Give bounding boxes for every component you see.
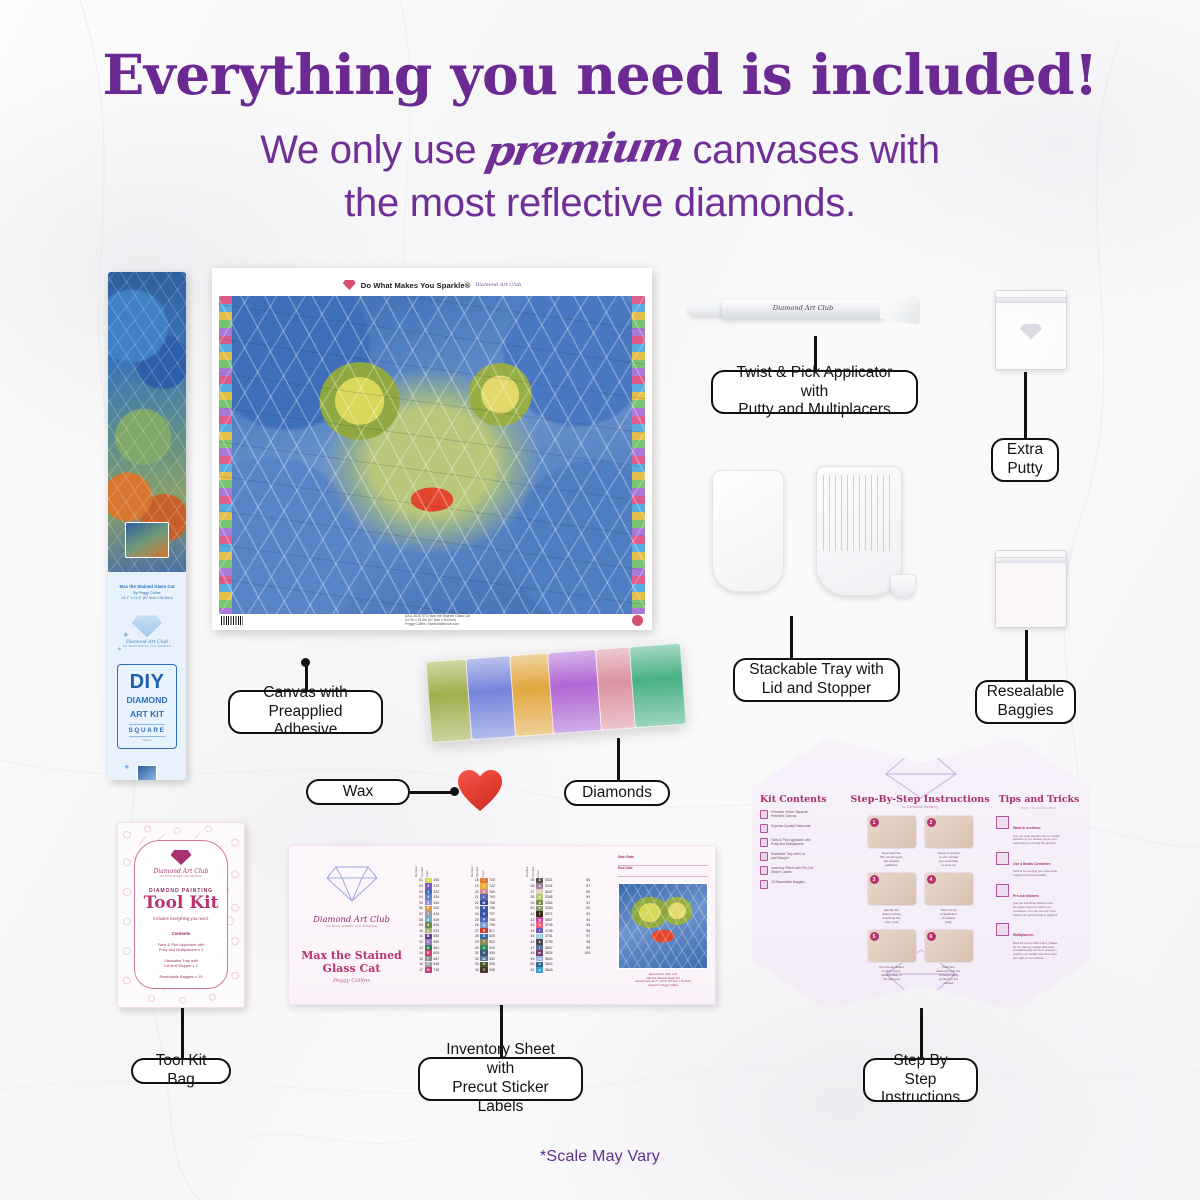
callout-applicator[interactable]: Twist & Pick Applicator with Putty and M… xyxy=(711,370,918,414)
diamond-icon xyxy=(343,280,356,290)
toolkit-content-item: Stackable Tray with Lid and Stopper x 1 xyxy=(158,958,204,968)
tray-lid xyxy=(890,574,916,598)
kit-content-row: Stackable Tray with Lid and Stopper xyxy=(760,852,844,861)
step-image: 1 xyxy=(867,815,917,849)
tips-subheading: FOR YOUR PROJECT xyxy=(996,806,1082,810)
chart-column: Number Symbol Color 18I72019J74220K76021… xyxy=(470,855,522,998)
drill-type: SQUARE xyxy=(129,724,166,737)
chart-swatch: j xyxy=(536,934,543,939)
chart-code: 718 xyxy=(433,968,445,972)
chart-number: 07 xyxy=(414,912,423,916)
kit-contents-column: Kit Contents Premium Velvet Tarpaulin Pa… xyxy=(760,794,844,964)
callout-extra-putty[interactable]: Extra Putty xyxy=(991,438,1059,482)
canvas-footer-info: DAC-4025 STG Max the Stained Glass Cat 2… xyxy=(405,614,470,627)
chart-swatch: i xyxy=(536,928,543,933)
step-image: 4 xyxy=(924,872,974,906)
chart-number: 14 xyxy=(414,951,423,955)
step-text: Twist the tip of applicator to release p… xyxy=(924,908,974,924)
chart-swatch: 8 xyxy=(425,917,432,922)
chart-code: 3761 xyxy=(545,934,557,938)
chart-swatch: O xyxy=(480,911,487,916)
chart-number: 93 xyxy=(581,912,590,916)
chart-number: 22 xyxy=(470,901,479,905)
chart-code: 910 xyxy=(489,946,501,950)
step-number: 1 xyxy=(870,818,879,827)
chart-code: 3047 xyxy=(545,890,557,894)
chart-code: 930 xyxy=(489,951,501,955)
chart-number: 27 xyxy=(470,929,479,933)
inventory-sheet: Diamond Art Club DO WHAT MAKES YOU SPARK… xyxy=(288,845,716,1005)
step-image: 6 xyxy=(924,929,974,963)
chart-swatch: D xyxy=(425,945,432,950)
chart-code: 3807 xyxy=(545,946,557,950)
chart-code: 334 xyxy=(433,895,445,899)
package-size: 24.7" x 21.6" (67.5cm x 54.9cm) xyxy=(108,596,186,601)
chart-number: 10 xyxy=(414,929,423,933)
chart-column: Number Symbol Color 35Z302136a304137b304… xyxy=(525,855,577,998)
chart-number: 04 xyxy=(414,895,423,899)
step-image: 5 xyxy=(867,929,917,963)
chart-swatch: 9 xyxy=(425,922,432,927)
tray-stopper xyxy=(712,470,784,592)
step-image: 2 xyxy=(924,815,974,849)
toolkit-content-item: Twist & Pick Applicator with Putty and M… xyxy=(151,942,210,952)
chart-code: 3363 xyxy=(545,906,557,910)
sparkle-icon: ✦ xyxy=(123,762,131,773)
step-text: Place the diamond onto the corresponding… xyxy=(924,965,974,985)
chart-code: 825 xyxy=(489,934,501,938)
chart-swatch: 5 xyxy=(425,900,432,905)
end-date-line[interactable] xyxy=(618,870,708,877)
tips-heading: Tips and Tricks xyxy=(996,794,1082,805)
start-date-line[interactable] xyxy=(618,859,708,866)
chart-number: 47 xyxy=(525,946,534,950)
package-mini-thumbnail xyxy=(137,765,157,780)
kit-content-row: 15 Resealable Baggies xyxy=(760,880,844,889)
chart-number: 35 xyxy=(525,878,534,882)
chart-number: 99 xyxy=(581,946,590,950)
chart-number: 33 xyxy=(470,962,479,966)
barcode-icon xyxy=(221,616,243,625)
chart-header-symbol: Symbol xyxy=(531,867,535,877)
chart-code: 3746 xyxy=(545,929,557,933)
chart-swatch: b xyxy=(536,889,543,894)
chart-rows-a: 0111500222100333220443340553400664020774… xyxy=(414,878,466,973)
kit-content-text: Inventory Sheet with Pre-Cut Sticker Lab… xyxy=(771,866,813,874)
applicator-icon xyxy=(760,838,768,847)
chart-header: Number Symbol Color xyxy=(470,855,522,877)
toolkit-brand-sub: DO WHAT MAKES YOU SPARKLE xyxy=(160,875,202,878)
chart-code: 3799 xyxy=(545,940,557,944)
instructions-columns: Kit Contents Premium Velvet Tarpaulin Pa… xyxy=(760,794,1082,964)
chart-number: 85 xyxy=(581,878,590,882)
callout-tool-kit-bag[interactable]: Tool Kit Bag xyxy=(131,1058,231,1084)
chart-swatch: 1 xyxy=(425,878,432,883)
subheadline-part-1: We only use xyxy=(260,128,476,172)
leader-line-tray xyxy=(790,616,793,658)
kit-line-1: DIAMOND xyxy=(120,695,174,705)
chart-header: Number Symbol Color xyxy=(525,855,577,877)
chart-code: 3840 xyxy=(545,957,557,961)
sparkle-icon: ✦ xyxy=(117,646,122,653)
chart-swatch: g xyxy=(536,917,543,922)
chart-code: 322 xyxy=(433,890,445,894)
package-title: Max the Stained Glass Cat xyxy=(108,584,186,591)
canvas-header: Do What Makes You Sparkle® Diamond Art C… xyxy=(219,275,645,295)
callout-step-by-step[interactable]: Step By Step Instructions xyxy=(863,1058,978,1102)
chart-swatch: W xyxy=(480,956,487,961)
tip-row: Pre-cut stickers:Use the individual stic… xyxy=(996,884,1082,918)
step-item: 3Identify the diamond bag matching the c… xyxy=(867,872,917,924)
diamond-icon xyxy=(132,615,162,637)
chart-number: 17 xyxy=(414,968,423,972)
stackable-tray xyxy=(712,466,922,616)
kit-content-row: Inventory Sheet with Pre-Cut Sticker Lab… xyxy=(760,866,844,875)
inventory-artist: Peggy Collins xyxy=(333,978,370,984)
chart-number: 29 xyxy=(470,940,479,944)
canvas-icon xyxy=(760,810,768,819)
leader-line-steps xyxy=(920,1008,923,1058)
chart-code: 3834 xyxy=(545,951,557,955)
chart-header-color: Color xyxy=(481,870,485,877)
chart-number: 21 xyxy=(470,895,479,899)
chart-code: 150 xyxy=(433,878,445,882)
page-title: Everything you need is included! xyxy=(0,46,1200,104)
chart-rows-c: 35Z302136a304137b304738c334839d336240e33… xyxy=(525,878,577,973)
steps-grid: 1Peel back the film covering the pre-app… xyxy=(850,815,990,985)
tip-title: Pre-cut stickers: xyxy=(1013,894,1040,898)
chart-code: 3041 xyxy=(545,884,557,888)
chart-swatch: o xyxy=(536,962,543,967)
chart-swatch: X xyxy=(480,962,487,967)
chart-number: 34 xyxy=(470,968,479,972)
callout-canvas[interactable]: Canvas with Preapplied Adhesive xyxy=(228,690,383,734)
chart-number: 38 xyxy=(525,895,534,899)
chart-row: 34Y938 xyxy=(470,967,522,973)
callout-stackable-tray[interactable]: Stackable Tray with Lid and Stopper xyxy=(733,658,900,702)
chart-swatch: S xyxy=(480,934,487,939)
kit-content-text: Premium Velvet Tarpaulin Patented Canvas xyxy=(771,810,808,818)
chart-swatch: H xyxy=(425,967,432,972)
chart-swatch: V xyxy=(480,950,487,955)
chart-swatch: P xyxy=(480,917,487,922)
steps-column: Step-By-Step Instructions to Diamond Pai… xyxy=(850,794,990,964)
leader-line-toolkit xyxy=(181,1008,184,1058)
chart-swatch: E xyxy=(425,950,432,955)
diamond-icon xyxy=(171,850,192,865)
chart-number: 01 xyxy=(414,878,423,882)
chart-swatch: R xyxy=(480,928,487,933)
step-item: 1Peel back the film covering the pre-app… xyxy=(867,815,917,867)
chart-row: 51p3843 xyxy=(525,967,577,973)
twist-and-pick-applicator: Diamond Art Club xyxy=(684,284,934,336)
chart-number: 31 xyxy=(470,951,479,955)
kit-content-text: Twist & Pick Applicator with Putty and M… xyxy=(771,838,811,846)
chart-header-color: Color xyxy=(425,870,429,877)
kit-line-2: ART KIT xyxy=(120,709,174,719)
chart-number: 89 xyxy=(581,890,590,894)
chart-code: 3371 xyxy=(545,912,557,916)
diamonds-icon xyxy=(760,824,768,833)
baggie-shape xyxy=(995,550,1067,628)
chart-header-number: Number xyxy=(414,866,418,877)
chart-code: 600 xyxy=(433,951,445,955)
chart-code: 3705 xyxy=(545,923,557,927)
chart-number: 16 xyxy=(414,962,423,966)
diamond-painting-canvas: Do What Makes You Sparkle® Diamond Art C… xyxy=(212,268,652,630)
step-item: 4Twist the tip of applicator to release … xyxy=(924,872,974,924)
chart-swatch: A xyxy=(425,928,432,933)
chart-swatch: e xyxy=(536,906,543,911)
chart-number: 23 xyxy=(470,906,479,910)
chart-swatch: c xyxy=(536,894,543,899)
diy-badge: DIY DIAMOND ART KIT SQUARE DRILLS xyxy=(117,664,177,749)
canvas-color-key-left xyxy=(219,296,232,614)
chart-number: 49 xyxy=(525,957,534,961)
toolkit-content-item: Resealable Baggies x 15 xyxy=(153,974,208,979)
step-by-step-instructions-sheet: Kit Contents Premium Velvet Tarpaulin Pa… xyxy=(752,738,1090,1010)
package-thumbnail xyxy=(125,522,169,558)
step-text: Select a symbol on the canvas you would … xyxy=(924,851,974,867)
chart-code: 936 xyxy=(489,962,501,966)
tip-title: Multiplacers: xyxy=(1013,933,1034,937)
chart-swatch: K xyxy=(480,889,487,894)
chart-column: Number Symbol Color 01115002221003332204… xyxy=(414,855,466,998)
chart-code: 340 xyxy=(433,901,445,905)
chart-swatch: 7 xyxy=(425,911,432,916)
sheet-icon xyxy=(760,866,768,875)
kit-content-row: Superior Quality Diamonds xyxy=(760,824,844,833)
multiplacer-icon xyxy=(996,923,1009,936)
chart-code: 796 xyxy=(489,901,501,905)
chart-header-spacer xyxy=(581,855,607,877)
chart-swatch: Q xyxy=(480,922,487,927)
container-icon xyxy=(996,852,1009,865)
headline-block: Everything you need is included! We only… xyxy=(0,46,1200,231)
chart-rows-d: 85878990919293949596979899100 xyxy=(581,878,607,956)
chart-swatch: k xyxy=(536,939,543,944)
tip-text: Use our clear tearable film for visible … xyxy=(1013,835,1060,846)
chart-swatch: 2 xyxy=(425,883,432,888)
chart-number: 46 xyxy=(525,940,534,944)
chart-number: 24 xyxy=(470,912,479,916)
chart-swatch: d xyxy=(536,900,543,905)
chart-swatch: n xyxy=(536,956,543,961)
steps-heading: Step-By-Step Instructions xyxy=(850,794,990,805)
chart-code: 796 xyxy=(489,906,501,910)
toolkit-title: Tool Kit xyxy=(144,895,219,912)
chart-code: 799 xyxy=(489,923,501,927)
chart-number: 30 xyxy=(470,946,479,950)
chart-code: 3607 xyxy=(545,918,557,922)
subheadline-line-3: the most reflective diamonds. xyxy=(344,181,856,225)
scale-footnote: *Scale May Vary xyxy=(0,1148,1200,1166)
chart-swatch: M xyxy=(480,900,487,905)
chart-swatch: I xyxy=(480,878,487,883)
chart-header-color: Color xyxy=(536,870,540,877)
step-number: 2 xyxy=(927,818,936,827)
chart-rows-b: 18I72019J74220K76021L79322M79623N79624O7… xyxy=(470,878,522,973)
tip-row: Multiplacers:Each kit comes with 3 and 7… xyxy=(996,923,1082,960)
leader-line-diamonds xyxy=(617,738,620,780)
chart-swatch: 4 xyxy=(425,894,432,899)
tool-kit-bag: Diamond Art Club DO WHAT MAKES YOU SPARK… xyxy=(117,822,245,1008)
chart-code: 793 xyxy=(489,895,501,899)
leader-line-baggies xyxy=(1025,630,1028,680)
diy-kit-package: Max the Stained Glass Cat By Peggy Colli… xyxy=(108,272,186,780)
chart-number: 95 xyxy=(581,923,590,927)
leader-line-putty xyxy=(1024,372,1027,438)
kit-content-row: Premium Velvet Tarpaulin Patented Canvas xyxy=(760,810,844,819)
subheadline: We only use premium canvases with the mo… xyxy=(0,122,1200,231)
brand-seal-icon xyxy=(632,615,643,626)
baggie-shape xyxy=(995,290,1067,370)
chart-code: 3348 xyxy=(545,895,557,899)
heart-icon xyxy=(458,770,502,812)
chart-header-number: Number xyxy=(470,866,474,877)
subheadline-part-2: canvases with xyxy=(692,128,939,172)
chart-number: 03 xyxy=(414,890,423,894)
chart-code: 3362 xyxy=(545,901,557,905)
chart-code: 550 xyxy=(433,934,445,938)
chart-number: 96 xyxy=(581,929,590,933)
step-number: 5 xyxy=(870,932,879,941)
tip-text: Each kit comes with 3 and 7 plates for f… xyxy=(1013,942,1058,961)
chart-code: 523 xyxy=(433,929,445,933)
inventory-title: Max the Stained Glass Cat xyxy=(301,950,402,975)
baggie-icon xyxy=(760,880,768,889)
chart-number: 13 xyxy=(414,946,423,950)
chart-code: 519 xyxy=(433,918,445,922)
inventory-right-panel: Start Date End Date Diamond Art Club, LL… xyxy=(611,846,715,1004)
inventory-footer: Diamond Art Club, LLC Max the Stained Gl… xyxy=(618,973,708,988)
step-image: 3 xyxy=(867,872,917,906)
chart-number: 39 xyxy=(525,901,534,905)
chart-header-symbol: Symbol xyxy=(475,867,479,877)
chart-number: 36 xyxy=(525,884,534,888)
chart-swatch: h xyxy=(536,922,543,927)
chart-number: 19 xyxy=(470,884,479,888)
tip-title: Work in sections: xyxy=(1013,826,1041,830)
chart-number: 18 xyxy=(470,878,479,882)
canvas-artwork-cat xyxy=(219,296,645,614)
chart-swatch: Y xyxy=(480,967,487,972)
chart-number: 94 xyxy=(581,918,590,922)
step-number: 4 xyxy=(927,875,936,884)
chart-header-number: Number xyxy=(525,866,529,877)
chart-number: 20 xyxy=(470,890,479,894)
chart-number: 50 xyxy=(525,962,534,966)
chart-code: 210 xyxy=(433,884,445,888)
leader-dot-canvas xyxy=(301,658,310,667)
chart-number: 26 xyxy=(470,923,479,927)
chart-code: 760 xyxy=(489,890,501,894)
sparkle-icon: ✦ xyxy=(122,630,130,641)
toolkit-label-panel: Diamond Art Club DO WHAT MAKES YOU SPARK… xyxy=(134,840,228,989)
chart-swatch: p xyxy=(536,967,543,972)
stickers-icon xyxy=(996,884,1009,897)
chart-number: 45 xyxy=(525,934,534,938)
chart-code: 797 xyxy=(489,912,501,916)
chart-row: 17H718 xyxy=(414,967,466,973)
chart-swatch: C xyxy=(425,939,432,944)
tips-column: Tips and Tricks FOR YOUR PROJECT Work in… xyxy=(996,794,1082,964)
chart-number: 09 xyxy=(414,923,423,927)
chart-code: 3842 xyxy=(545,962,557,966)
chart-swatch: B xyxy=(425,934,432,939)
chart-code: 647 xyxy=(433,957,445,961)
chart-number: 37 xyxy=(525,890,534,894)
chart-swatch: m xyxy=(536,950,543,955)
chart-number: 97 xyxy=(581,934,590,938)
extra-putty-bag xyxy=(995,290,1067,370)
chart-code: 742 xyxy=(489,884,501,888)
sections-icon xyxy=(996,816,1009,829)
step-item: 2Select a symbol on the canvas you would… xyxy=(924,815,974,867)
chart-number: 41 xyxy=(525,912,534,916)
package-lower-panel: Max the Stained Glass Cat By Peggy Colli… xyxy=(108,572,186,780)
chart-number: 48 xyxy=(525,951,534,955)
chart-swatch: Z xyxy=(536,878,543,883)
chart-number: 02 xyxy=(414,884,423,888)
kit-content-text: 15 Resealable Baggies xyxy=(771,880,805,884)
applicator-multiplacer xyxy=(880,295,920,325)
chart-number: 11 xyxy=(414,934,423,938)
kit-contents-heading: Kit Contents xyxy=(760,794,844,805)
chart-number: 92 xyxy=(581,906,590,910)
step-text: Identify the diamond bag matching the co… xyxy=(867,908,917,924)
callout-inventory-sheet[interactable]: Inventory Sheet with Precut Sticker Labe… xyxy=(418,1057,583,1101)
chart-number: 12 xyxy=(414,940,423,944)
chart-number: 100 xyxy=(581,951,590,955)
chart-number: 05 xyxy=(414,901,423,905)
chart-number: 44 xyxy=(525,929,534,933)
color-chart-grid: Number Symbol Color 01115002221003332204… xyxy=(414,846,611,1004)
toolkit-subtitle: Includes everything you need. xyxy=(153,916,209,921)
subheadline-script-word: premium xyxy=(481,119,687,179)
steps-subheading: to Diamond Painting xyxy=(850,805,990,809)
callout-diamonds[interactable]: Diamonds xyxy=(564,780,670,806)
kit-content-text: Stackable Tray with Lid and Stopper xyxy=(771,852,805,860)
wax-heart xyxy=(458,770,502,812)
canvas-brand: Diamond Art Club xyxy=(475,282,521,288)
chart-number: 25 xyxy=(470,918,479,922)
inventory-brand: Diamond Art Club xyxy=(313,914,390,924)
artwork-preview xyxy=(618,883,708,969)
chart-code: 938 xyxy=(489,968,501,972)
drill-type-sub: DRILLS xyxy=(120,739,174,742)
diy-label: DIY xyxy=(120,672,174,692)
tip-title: Use a Beads Container: xyxy=(1013,862,1051,866)
callout-resealable-baggies[interactable]: Resealable Baggies xyxy=(975,680,1076,724)
chart-number: 43 xyxy=(525,923,534,927)
chart-swatch: 6 xyxy=(425,906,432,911)
applicator-brand: Diamond Art Club xyxy=(744,304,862,312)
callout-wax[interactable]: Wax xyxy=(306,779,410,805)
chart-number: 51 xyxy=(525,968,534,972)
chart-swatch: L xyxy=(480,894,487,899)
chart-code: 550 xyxy=(433,940,445,944)
chart-code: 3021 xyxy=(545,878,557,882)
chart-swatch: a xyxy=(536,883,543,888)
kit-content-text: Superior Quality Diamonds xyxy=(771,824,810,828)
chart-header-symbol: Symbol xyxy=(420,867,424,877)
chart-number: 40 xyxy=(525,906,534,910)
chart-swatch: N xyxy=(480,906,487,911)
chart-code: 798 xyxy=(489,918,501,922)
step-number: 3 xyxy=(870,875,879,884)
toolkit-brand: Diamond Art Club xyxy=(154,868,209,875)
